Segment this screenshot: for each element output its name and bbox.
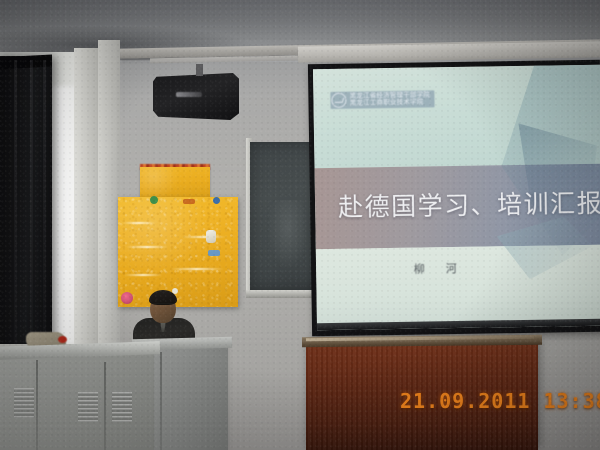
slide-title: 赴德国学习、培训汇报 [338,183,600,223]
institution-name-lines: 黑龙江省经济管理干部学院 黑龙江工商职业技术学院 [350,93,431,108]
institution-emblem-icon [332,93,347,108]
bose-logo [176,92,202,97]
cabinet-panel-seam [104,362,106,450]
speaker-mount-bracket [196,64,203,76]
bulletin-board-texture [118,197,238,307]
chalk-smudge [268,200,308,270]
board-streak [182,236,226,238]
window-jamb [74,48,100,354]
camera-timestamp: 21.09.2011 13:38 [400,389,600,413]
board-streak [124,274,162,276]
board-sticker [183,199,195,204]
cabinet-panel-seam [36,360,38,450]
cabinet-vent [78,392,98,422]
classroom-presentation-photo: 黑龙江省经济管理干部学院 黑龙江工商职业技术学院 赴德国学习、培训汇报 柳 河 … [0,0,600,450]
bulletin-board-upper-panel [140,167,210,199]
cabinet-vent [112,392,132,422]
curtain-fold [43,60,46,350]
cabinet-panel-seam [160,352,162,450]
institution-logo-banner: 黑龙江省经济管理干部学院 黑龙江工商职业技术学院 [331,91,435,110]
curtain-fold [14,60,17,350]
projection-screen-surface: 黑龙江省经济管理干部学院 黑龙江工商职业技术学院 赴德国学习、培训汇报 柳 河 [313,65,600,330]
board-sticker [208,250,220,256]
red-object-on-sill [58,336,67,343]
window-jamb-outer [98,40,120,356]
projection-screen-frame: 黑龙江省经济管理干部学院 黑龙江工商职业技术学院 赴德国学习、培训汇报 柳 河 [308,60,600,337]
curtain-fold [30,60,33,350]
board-streak [170,268,224,270]
cabinet-vent [14,388,34,418]
board-sticker [150,196,158,204]
board-note [206,230,216,243]
board-streak [122,222,156,224]
slide-presenter-name: 柳 河 [414,260,466,277]
board-streak [126,246,168,248]
board-sticker [213,197,220,204]
institution-name-line-2: 黑龙江工商职业技术学院 [350,99,431,107]
board-sticker [121,292,133,304]
presenter-glasses [152,303,174,309]
